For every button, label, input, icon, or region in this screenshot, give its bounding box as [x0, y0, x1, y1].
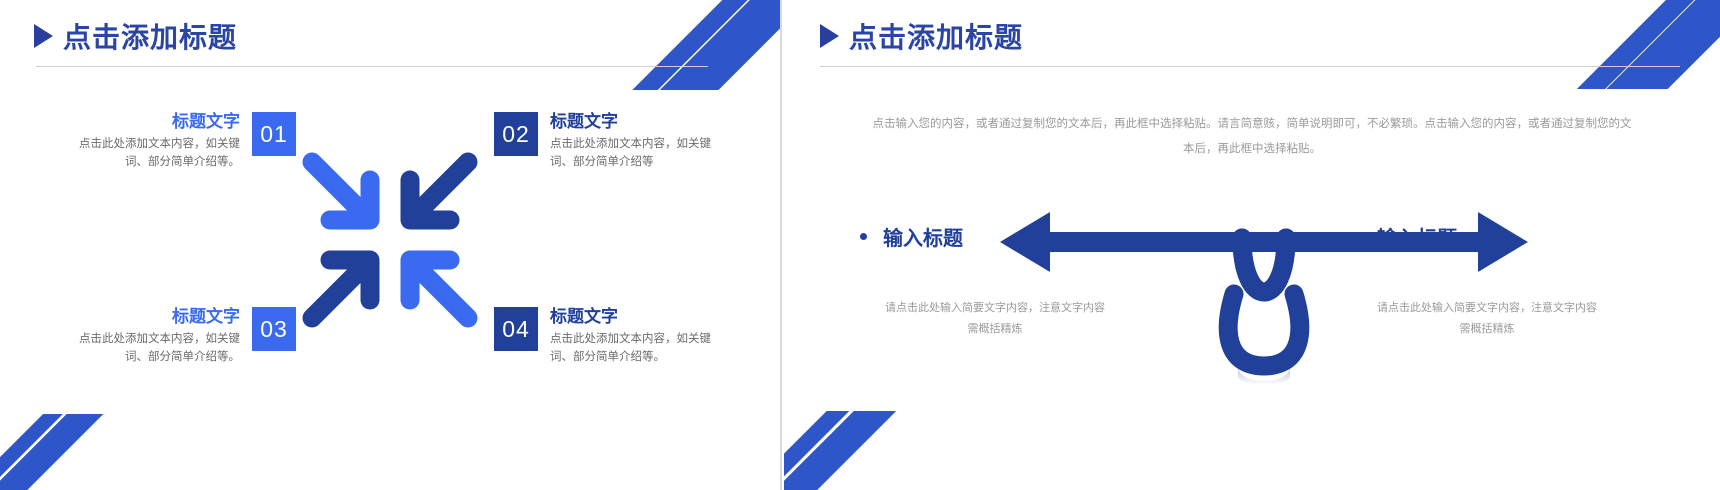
- slide-left: 点击添加标题 标题文字 点击此处添加文本内容，如关键词、部分简单介绍等。 01 …: [0, 0, 780, 490]
- item-number-badge: 02: [494, 112, 538, 156]
- decorative-stripes-bottom-left: [0, 414, 144, 490]
- item-title: 标题文字: [550, 307, 618, 327]
- list-item[interactable]: 标题文字 点击此处添加文本内容，如关键词、部分简单介绍等。 01: [60, 112, 296, 171]
- list-item[interactable]: 02 标题文字 点击此处添加文本内容，如关键词、部分简单介绍等: [494, 112, 730, 171]
- item-title: 标题文字: [172, 307, 240, 327]
- decorative-stripes-bottom-left: [784, 411, 934, 490]
- slide-pair-canvas: 点击添加标题 标题文字 点击此处添加文本内容，如关键词、部分简单介绍等。 01 …: [0, 0, 1720, 490]
- item-body: 点击此处添加文本内容，如关键词、部分简单介绍等。: [60, 330, 240, 367]
- item-body: 点击此处添加文本内容，如关键词、部分简单介绍等。: [550, 330, 730, 367]
- header-rule: [820, 66, 1680, 67]
- page-title: 点击添加标题: [63, 16, 237, 56]
- block-label-left[interactable]: 输入标题: [860, 222, 963, 251]
- play-triangle-icon: [34, 24, 53, 48]
- decorative-stripes-top-right: [628, 0, 780, 90]
- item-number-badge: 04: [494, 307, 538, 351]
- bullet-dot-icon: [860, 233, 867, 240]
- slide-right: 点击添加标题 点击输入您的内容，或者通过复制您的文本后，再此框中选择粘贴。请言简…: [784, 0, 1720, 490]
- page-title: 点击添加标题: [849, 16, 1023, 56]
- item-body: 点击此处添加文本内容，如关键词、部分简单介绍等。: [60, 135, 240, 172]
- header-rule: [36, 66, 708, 67]
- four-arrows-converge-icon: [300, 150, 480, 330]
- item-title: 标题文字: [550, 112, 618, 132]
- slide-divider: [780, 0, 782, 490]
- list-item[interactable]: 标题文字 点击此处添加文本内容，如关键词、部分简单介绍等。 03: [60, 307, 296, 366]
- item-number-badge: 03: [252, 307, 296, 351]
- decorative-stripes-top-right: [1560, 0, 1720, 89]
- item-body: 点击此处添加文本内容，如关键词、部分简单介绍等: [550, 135, 730, 172]
- intro-paragraph: 点击输入您的内容，或者通过复制您的文本后，再此框中选择粘贴。请言简意赅，简单说明…: [870, 112, 1634, 163]
- block-label-text: 输入标题: [883, 222, 963, 251]
- list-item[interactable]: 04 标题文字 点击此处添加文本内容，如关键词、部分简单介绍等。: [494, 307, 730, 366]
- right-slide-header: 点击添加标题: [820, 16, 1023, 56]
- item-number-badge: 01: [252, 112, 296, 156]
- play-triangle-icon: [820, 24, 839, 48]
- item-title: 标题文字: [172, 112, 240, 132]
- double-arrow-knot-icon: [994, 190, 1534, 390]
- left-slide-header: 点击添加标题: [34, 16, 237, 56]
